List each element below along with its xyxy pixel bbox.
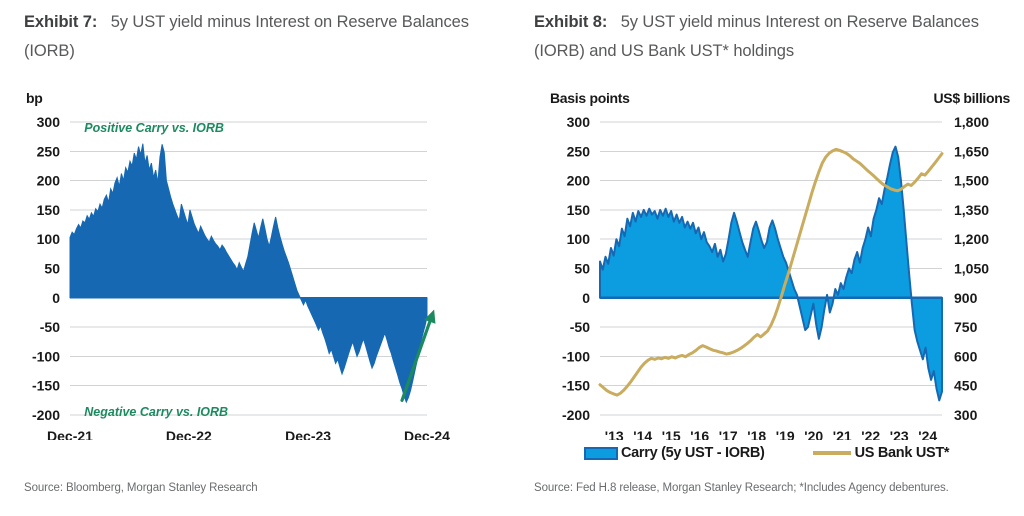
- exhibit-pair-page: Exhibit 7: 5y UST yield minus Interest o…: [0, 0, 1024, 516]
- exhibit-7-ytick: 50: [44, 261, 60, 277]
- exhibit-8-xtick: '20: [804, 428, 823, 440]
- exhibit-8-title: Exhibit 8: 5y UST yield minus Interest o…: [534, 8, 1014, 66]
- exhibit-8-legend: Carry (5y UST - IORB) US Bank UST*: [584, 445, 949, 461]
- exhibit-8-ytick-right: 750: [954, 319, 978, 335]
- exhibit-8-xtick: '17: [719, 428, 738, 440]
- exhibit-8-ytick-left: 200: [567, 173, 591, 189]
- exhibit-8-ytick-left: -100: [562, 348, 590, 364]
- exhibit-8-ytick-left: 250: [567, 143, 591, 159]
- exhibit-8-panel: Exhibit 8: 5y UST yield minus Interest o…: [512, 0, 1024, 516]
- exhibit-7-ytick: -100: [32, 348, 60, 364]
- exhibit-7-label: Exhibit 7:: [24, 13, 97, 31]
- negative-carry-annotation: Negative Carry vs. IORB: [84, 405, 228, 419]
- exhibit-8-xtick: '14: [633, 428, 652, 440]
- legend-label-us-bank-ust: US Bank UST*: [855, 445, 950, 461]
- exhibit-8-ytick-right: 450: [954, 378, 978, 394]
- exhibit-8-y-unit-left: Basis points: [550, 90, 630, 106]
- exhibit-7-ytick: -150: [32, 378, 60, 394]
- exhibit-8-xtick: '22: [861, 428, 880, 440]
- exhibit-7-ytick: 300: [37, 114, 61, 130]
- exhibit-8-xtick: '19: [776, 428, 795, 440]
- exhibit-8-ytick-left: -150: [562, 378, 590, 394]
- exhibit-7-ytick: 100: [37, 231, 61, 247]
- exhibit-8-ytick-left: 0: [582, 290, 590, 306]
- exhibit-7-ytick: 0: [52, 290, 60, 306]
- exhibit-8-xtick: '24: [918, 428, 937, 440]
- exhibit-8-ytick-right: 1,200: [954, 231, 989, 247]
- exhibit-8-xtick: '21: [833, 428, 852, 440]
- line-swatch-icon: [813, 451, 851, 455]
- exhibit-7-xtick: Dec-21: [47, 428, 93, 440]
- exhibit-8-ytick-right: 1,050: [954, 261, 989, 277]
- exhibit-8-source: Source: Fed H.8 release, Morgan Stanley …: [534, 482, 949, 494]
- exhibit-8-label: Exhibit 8:: [534, 13, 607, 31]
- exhibit-8-ytick-right: 1,650: [954, 143, 989, 159]
- exhibit-8-ytick-right: 1,350: [954, 202, 989, 218]
- exhibit-8-ytick-right: 300: [954, 407, 978, 423]
- exhibit-8-xtick: '15: [662, 428, 681, 440]
- exhibit-8-ytick-left: 150: [567, 202, 591, 218]
- exhibit-7-chart: 300250200150100500-50-100-150-200Dec-21D…: [0, 110, 512, 440]
- exhibit-7-xtick: Dec-22: [166, 428, 212, 440]
- exhibit-7-panel: Exhibit 7: 5y UST yield minus Interest o…: [0, 0, 512, 516]
- exhibit-8-xtick: '16: [690, 428, 709, 440]
- exhibit-7-y-unit: bp: [26, 90, 43, 106]
- exhibit-7-area-series: [70, 144, 427, 402]
- exhibit-8-ytick-right: 1,800: [954, 114, 989, 130]
- legend-item-us-bank-ust[interactable]: US Bank UST*: [813, 445, 950, 461]
- exhibit-8-y-unit-right: US$ billions: [933, 90, 1010, 106]
- area-swatch-icon: [584, 447, 618, 460]
- exhibit-8-xtick: '18: [747, 428, 766, 440]
- exhibit-7-ytick: -200: [32, 407, 60, 423]
- exhibit-7-ytick: 150: [37, 202, 61, 218]
- exhibit-8-ytick-right: 600: [954, 348, 978, 364]
- positive-carry-annotation: Positive Carry vs. IORB: [84, 121, 224, 135]
- legend-label-carry: Carry (5y UST - IORB): [621, 445, 765, 461]
- exhibit-7-title: Exhibit 7: 5y UST yield minus Interest o…: [24, 8, 494, 66]
- exhibit-7-source: Source: Bloomberg, Morgan Stanley Resear…: [24, 482, 258, 494]
- exhibit-8-chart: 3001,8002501,6502001,5001501,3501001,200…: [512, 110, 1024, 440]
- exhibit-7-ytick: 200: [37, 173, 61, 189]
- exhibit-7-ytick: 250: [37, 143, 61, 159]
- exhibit-8-ytick-left: 50: [574, 261, 590, 277]
- exhibit-7-ytick: -50: [40, 319, 60, 335]
- exhibit-8-ytick-left: -50: [570, 319, 590, 335]
- exhibit-8-xtick: '13: [605, 428, 624, 440]
- legend-item-carry[interactable]: Carry (5y UST - IORB): [584, 445, 765, 461]
- exhibit-8-ytick-right: 1,500: [954, 173, 989, 189]
- exhibit-8-xtick: '23: [890, 428, 909, 440]
- exhibit-8-ytick-left: -200: [562, 407, 590, 423]
- exhibit-8-ytick-left: 300: [567, 114, 591, 130]
- exhibit-7-xtick: Dec-24: [404, 428, 450, 440]
- exhibit-8-ytick-right: 900: [954, 290, 978, 306]
- exhibit-8-ytick-left: 100: [567, 231, 591, 247]
- exhibit-7-xtick: Dec-23: [285, 428, 331, 440]
- exhibit-8-carry-area: [600, 147, 942, 401]
